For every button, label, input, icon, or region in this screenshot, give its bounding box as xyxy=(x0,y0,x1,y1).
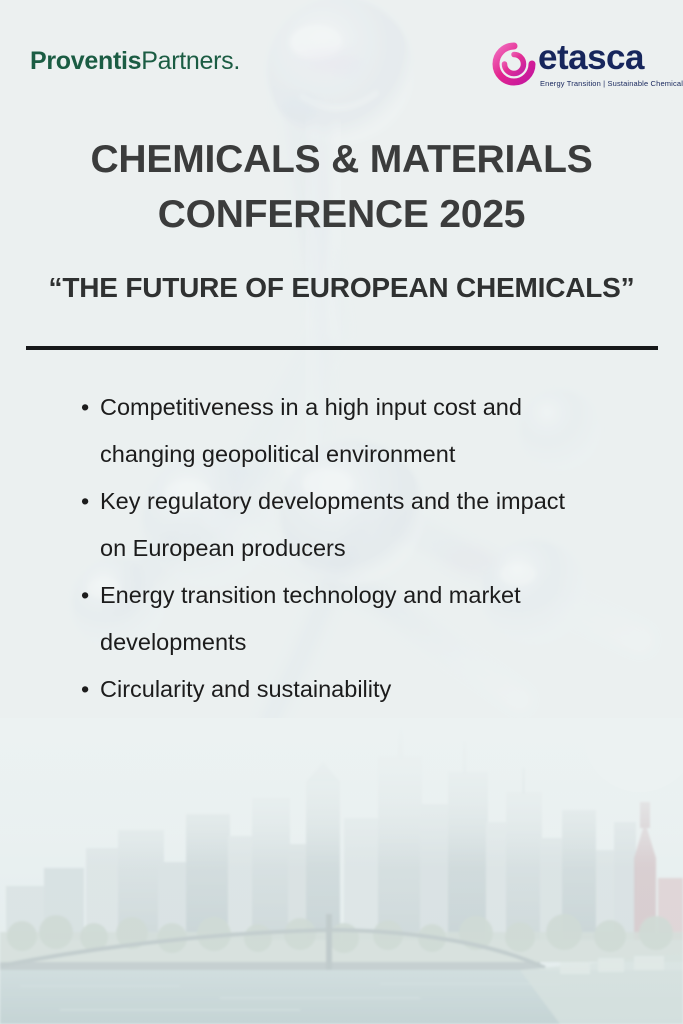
etasca-tagline: Energy Transition | Sustainable Chemical… xyxy=(540,79,683,88)
bullet-marker: • xyxy=(81,384,89,431)
section-divider xyxy=(26,346,658,350)
etasca-wordmark: etasca xyxy=(538,38,644,78)
list-item: • Competitiveness in a high input cost a… xyxy=(78,384,658,478)
headline-line-2: CONFERENCE 2025 xyxy=(0,187,683,242)
proventis-partners-logo[interactable]: ProventisPartners. xyxy=(30,47,240,76)
poster-content: ProventisPartners. etasca xyxy=(0,0,683,1024)
list-item-line-1: Key regulatory developments and the impa… xyxy=(100,478,658,525)
list-item: • Circularity and sustainability xyxy=(78,666,658,713)
conference-poster: ProventisPartners. etasca xyxy=(0,0,683,1024)
list-item-line-2: on European producers xyxy=(100,525,658,572)
bullet-marker: • xyxy=(81,478,89,525)
proventis-logo-light-text: Partners. xyxy=(141,47,240,75)
bullet-marker: • xyxy=(81,572,89,619)
bullet-marker: • xyxy=(81,666,89,713)
pink-spiral-ring-icon xyxy=(492,42,536,86)
list-item: • Energy transition technology and marke… xyxy=(78,572,658,666)
headline-line-1: CHEMICALS & MATERIALS xyxy=(0,132,683,187)
list-item-line-1: Circularity and sustainability xyxy=(100,666,658,713)
list-item-line-2: developments xyxy=(100,619,658,666)
proventis-logo-bold-text: Proventis xyxy=(30,47,141,75)
etasca-logo[interactable]: etasca Energy Transition | Sustainable C… xyxy=(492,38,657,98)
list-item-line-2: changing geopolitical environment xyxy=(100,431,658,478)
list-item-line-1: Energy transition technology and market xyxy=(100,572,658,619)
page-subtitle: “THE FUTURE OF EUROPEAN CHEMICALS” xyxy=(0,272,683,304)
topics-list: • Competitiveness in a high input cost a… xyxy=(78,384,658,713)
list-item: • Key regulatory developments and the im… xyxy=(78,478,658,572)
page-title: CHEMICALS & MATERIALS CONFERENCE 2025 xyxy=(0,132,683,242)
list-item-line-1: Competitiveness in a high input cost and xyxy=(100,384,658,431)
